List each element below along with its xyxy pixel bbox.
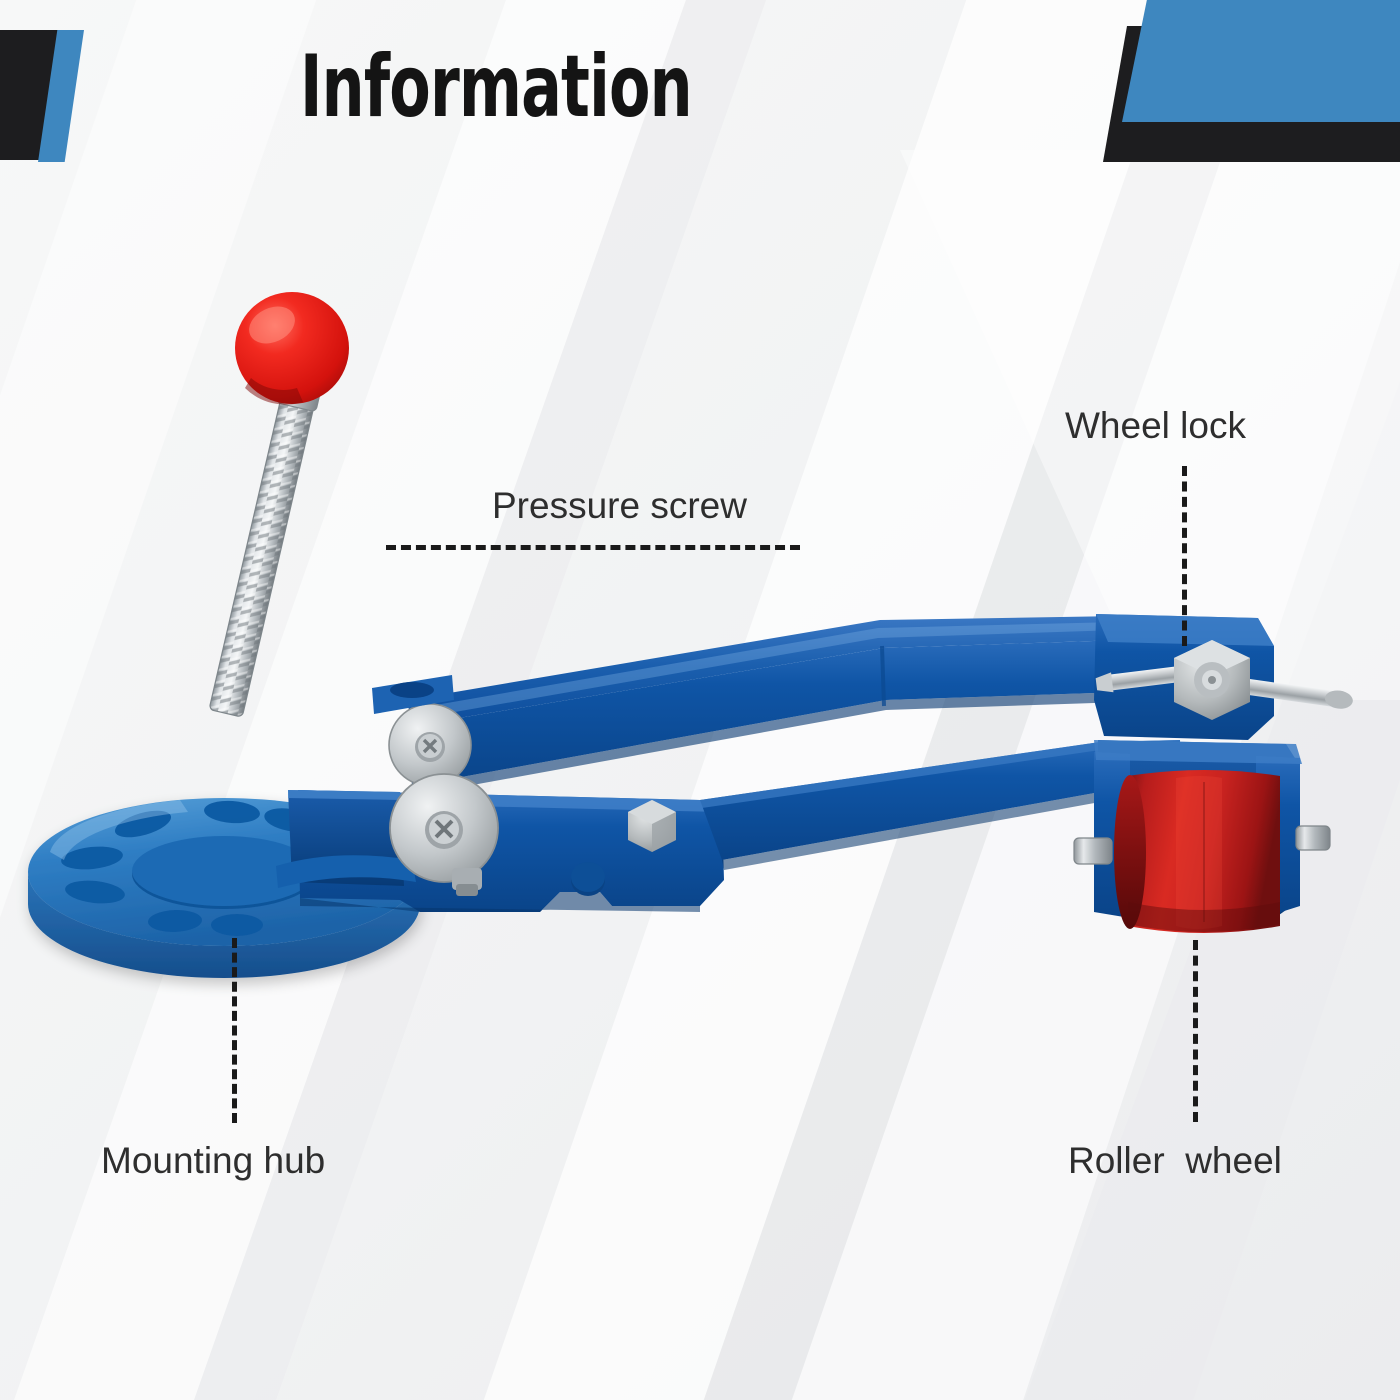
under-plate-hardware bbox=[452, 868, 482, 896]
callout-label-mounting-hub: Mounting hub bbox=[101, 1140, 325, 1182]
leader-line-roller-wheel bbox=[1193, 940, 1198, 1122]
roller-bearing-upper bbox=[389, 704, 471, 786]
roller-wheel-part bbox=[1114, 770, 1280, 933]
red-ball-knob bbox=[235, 292, 349, 405]
callout-label-roller-wheel: Roller wheel bbox=[1068, 1140, 1282, 1182]
product-illustration bbox=[0, 0, 1400, 1400]
callout-label-pressure-screw: Pressure screw bbox=[492, 485, 747, 527]
leader-line-wheel-lock bbox=[1182, 466, 1187, 646]
infographic-page: Information bbox=[0, 0, 1400, 1400]
roller-bearing-lower bbox=[390, 774, 498, 882]
callout-label-wheel-lock: Wheel lock bbox=[1065, 405, 1246, 447]
leader-line-pressure-screw bbox=[386, 545, 800, 550]
leader-line-mounting-hub bbox=[232, 938, 237, 1123]
pressure-screw-part bbox=[206, 292, 349, 718]
wheel-lock-part bbox=[1094, 614, 1354, 740]
